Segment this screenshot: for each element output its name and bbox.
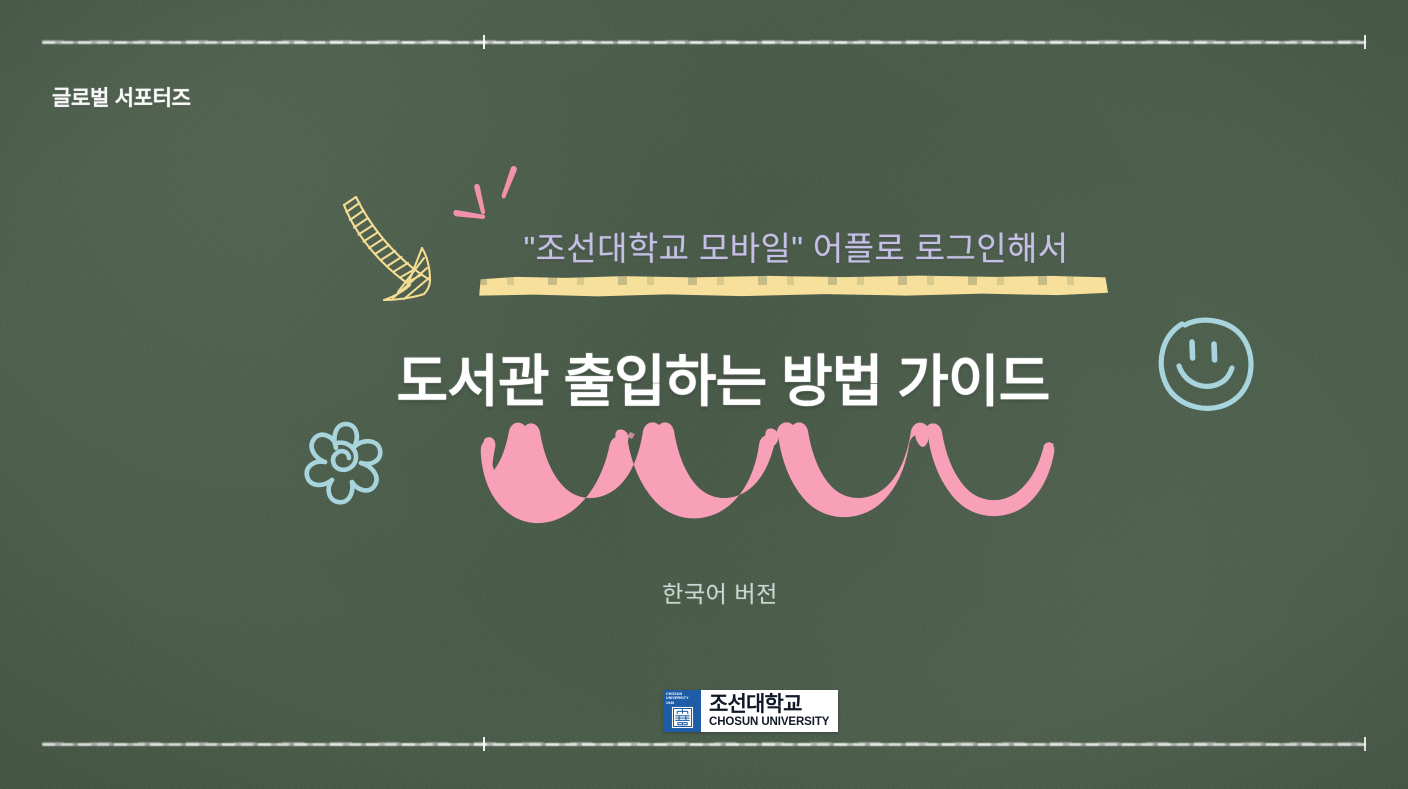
rule-line — [42, 41, 1366, 44]
flower-doodle — [292, 414, 396, 519]
caption-text: 한국어 버전 — [0, 575, 1408, 609]
rule-tick-end — [1364, 737, 1366, 751]
rule-tick-middle — [483, 35, 485, 49]
chosun-university-logo: CHOSUN UNIVERSITY 1946 — [663, 690, 838, 732]
logo-mark: CHOSUN UNIVERSITY 1946 — [663, 690, 701, 732]
arrow-doodle — [338, 188, 454, 315]
page-title: 도서관 출입하는 방법 가이드 — [0, 337, 1408, 418]
highlighter-streaks — [478, 276, 1108, 285]
kicker-label: 글로벌 서포터즈 — [52, 82, 191, 112]
subtitle-text: "조선대학교 모바일" 어플로 로그인해서 — [476, 222, 1116, 270]
subtitle-block: "조선대학교 모바일" 어플로 로그인해서 — [476, 222, 1116, 306]
logo-name-korean: 조선대학교 — [709, 694, 802, 715]
logo-mark-caption: CHOSUN UNIVERSITY 1946 — [666, 692, 689, 705]
logo-mark-line-3: 1946 — [666, 701, 689, 705]
bottom-chalk-rule — [42, 742, 1366, 747]
top-chalk-rule — [42, 40, 1366, 45]
logo-emblem-icon — [671, 706, 694, 729]
rule-line — [42, 743, 1366, 746]
rule-tick-end — [1364, 35, 1366, 49]
wave-underline — [478, 418, 1058, 543]
rule-tick-middle — [483, 737, 485, 751]
logo-name-english: CHOSUN UNIVERSITY — [709, 716, 829, 729]
title-slide: 글로벌 서포터즈 — [0, 0, 1408, 789]
logo-wordmark: 조선대학교 CHOSUN UNIVERSITY — [701, 690, 838, 732]
